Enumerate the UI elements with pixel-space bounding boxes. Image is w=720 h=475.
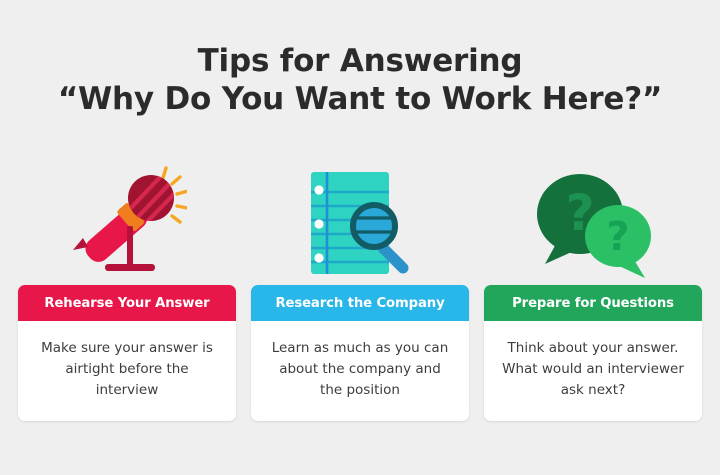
tip-card-2-header: Research the Company xyxy=(251,285,469,321)
tips-columns: Rehearse Your Answer Make sure your answ… xyxy=(18,160,702,421)
notebook-magnifier-icon xyxy=(251,160,469,285)
tip-card-1-body: Make sure your answer is airtight before… xyxy=(18,321,236,421)
infographic-poster: Tips for Answering “Why Do You Want to W… xyxy=(0,0,720,475)
tip-card-3-header: Prepare for Questions xyxy=(484,285,702,321)
tip-card-2-text: Learn as much as you can about the compa… xyxy=(267,338,453,401)
tip-column-1: Rehearse Your Answer Make sure your answ… xyxy=(18,160,236,421)
tip-card-3-body: Think about your answer. What would an i… xyxy=(484,321,702,421)
tip-column-2: Research the Company Learn as much as yo… xyxy=(251,160,469,421)
speech-bubbles-icon: ? ? xyxy=(484,160,702,285)
title-line-2: “Why Do You Want to Work Here?” xyxy=(0,80,720,118)
title-line-1: Tips for Answering xyxy=(0,42,720,80)
tip-card-1: Rehearse Your Answer Make sure your answ… xyxy=(18,285,236,421)
tip-card-1-text: Make sure your answer is airtight before… xyxy=(34,338,220,401)
page-title: Tips for Answering “Why Do You Want to W… xyxy=(0,42,720,118)
speech-bubbles-icon-svg: ? ? xyxy=(529,164,657,282)
notebook-magnifier-icon-svg xyxy=(299,164,421,282)
tip-card-1-header: Rehearse Your Answer xyxy=(18,285,236,321)
tip-card-3: Prepare for Questions Think about your a… xyxy=(484,285,702,421)
tip-column-3: ? ? Prepare for Questions Think about yo… xyxy=(484,160,702,421)
microphone-icon xyxy=(18,160,236,285)
tip-card-2-body: Learn as much as you can about the compa… xyxy=(251,321,469,421)
tip-card-2: Research the Company Learn as much as yo… xyxy=(251,285,469,421)
speech-bubble-front: ? xyxy=(585,205,651,278)
microphone-icon-svg xyxy=(67,164,187,282)
svg-text:?: ? xyxy=(606,214,629,260)
tip-card-3-text: Think about your answer. What would an i… xyxy=(500,338,686,401)
